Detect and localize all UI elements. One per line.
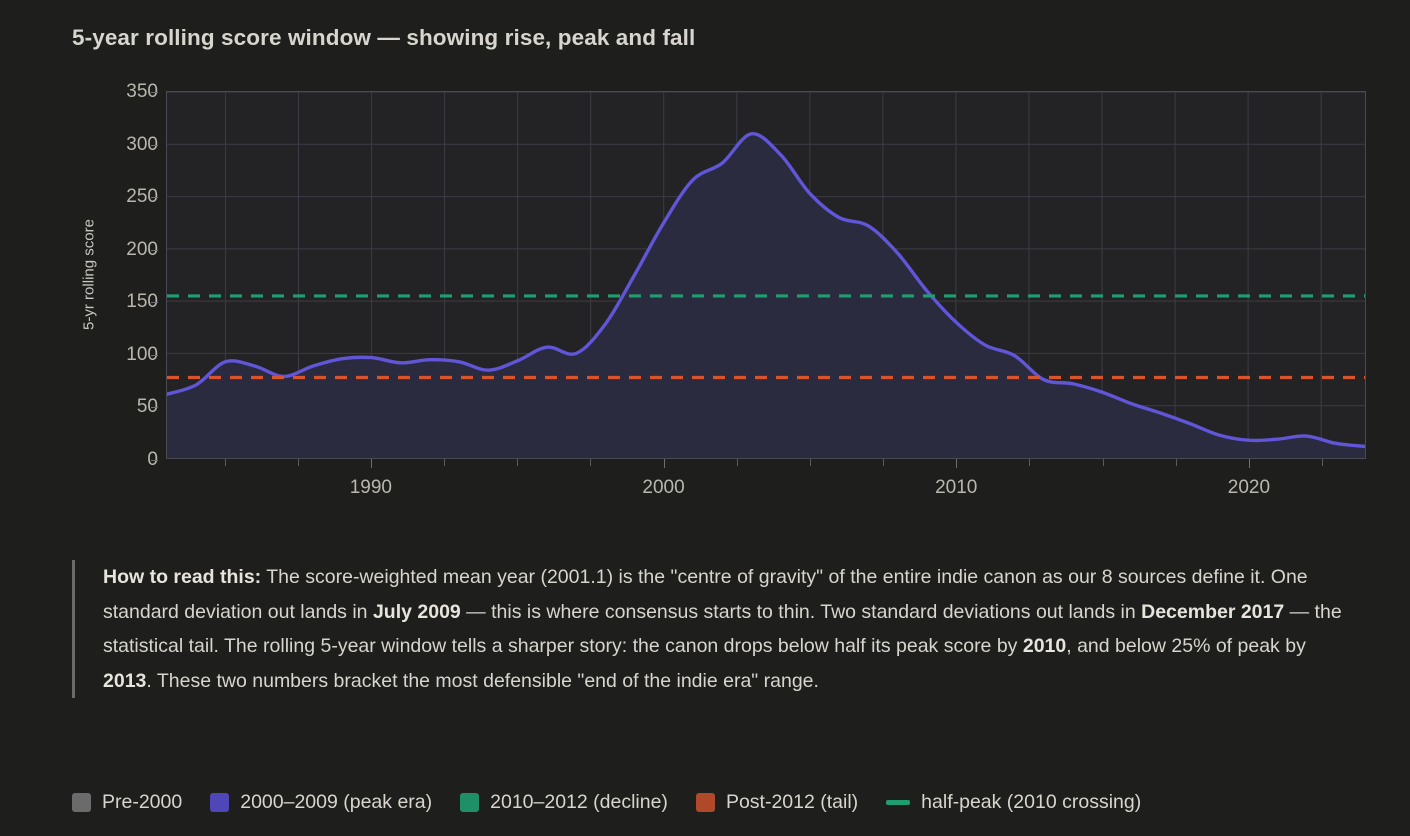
square-swatch [460,793,479,812]
callout-lead: How to read this: [103,566,261,588]
x-tick-mark-minor [1029,459,1030,466]
x-tick-mark-minor [225,459,226,466]
square-swatch [210,793,229,812]
x-tick-label: 1990 [350,477,392,499]
y-tick-label: 100 [88,344,158,366]
x-axis-ticks: 1990200020102020 [166,459,1366,509]
callout-seg-2: — this is where consensus starts to thin… [461,601,1141,623]
y-tick-label: 50 [88,396,158,418]
x-tick-mark-minor [737,459,738,466]
x-tick-mark-minor [517,459,518,466]
callout-bold-2: December 2017 [1141,601,1284,623]
y-tick-mark [151,302,158,303]
x-tick-mark-major [1249,459,1250,468]
legend-item-label: Post-2012 (tail) [726,791,858,814]
series-plot [167,92,1365,458]
x-tick-mark-minor [1322,459,1323,466]
legend-item[interactable]: Post-2012 (tail) [696,791,858,814]
x-tick-mark-minor [883,459,884,466]
y-tick-mark [151,145,158,146]
callout-seg-5: . These two numbers bracket the most def… [146,670,819,692]
chart-figure: 5-yr rolling score 050100150200250300350… [0,70,1410,520]
callout-bold-4: 2013 [103,670,146,692]
y-tick-mark [151,250,158,251]
x-tick-mark-major [371,459,372,468]
callout-bold-1: July 2009 [373,601,461,623]
callout-bold-3: 2010 [1023,635,1066,657]
y-tick-label: 0 [88,449,158,471]
y-tick-mark [151,92,158,93]
y-tick-label: 150 [88,291,158,313]
x-tick-label: 2020 [1228,477,1270,499]
x-tick-mark-minor [590,459,591,466]
legend-item[interactable]: half-peak (2010 crossing) [886,791,1141,814]
y-tick-label: 300 [88,134,158,156]
y-axis-ticks: 050100150200250300350 [78,91,158,459]
y-tick-mark [151,460,158,461]
legend-item[interactable]: Pre-2000 [72,791,182,814]
legend-item-label: Pre-2000 [102,791,182,814]
plot-area [166,91,1366,459]
y-tick-mark [151,197,158,198]
y-tick-mark [151,407,158,408]
legend-item-label: half-peak (2010 crossing) [921,791,1141,814]
how-to-read-callout: How to read this: The score-weighted mea… [72,560,1342,698]
x-tick-label: 2000 [642,477,684,499]
callout-seg-4: , and below 25% of peak by [1066,635,1306,657]
x-tick-mark-minor [1103,459,1104,466]
y-tick-label: 200 [88,239,158,261]
x-tick-mark-minor [298,459,299,466]
x-tick-mark-major [664,459,665,468]
legend-item-label: 2000–2009 (peak era) [240,791,432,814]
legend-item[interactable]: 2000–2009 (peak era) [210,791,432,814]
x-tick-label: 2010 [935,477,977,499]
square-swatch [696,793,715,812]
y-tick-mark [151,355,158,356]
x-tick-mark-minor [1176,459,1177,466]
page-title: 5-year rolling score window — showing ri… [72,25,695,51]
callout-paragraph: How to read this: The score-weighted mea… [103,560,1342,698]
square-swatch [72,793,91,812]
chart-page: 5-year rolling score window — showing ri… [0,0,1410,836]
y-tick-label: 250 [88,186,158,208]
line-swatch [886,800,910,805]
x-tick-mark-minor [810,459,811,466]
x-tick-mark-minor [444,459,445,466]
chart-legend: Pre-20002000–2009 (peak era)2010–2012 (d… [72,791,1169,814]
x-tick-mark-major [956,459,957,468]
legend-item[interactable]: 2010–2012 (decline) [460,791,668,814]
y-tick-label: 350 [88,81,158,103]
legend-item-label: 2010–2012 (decline) [490,791,668,814]
